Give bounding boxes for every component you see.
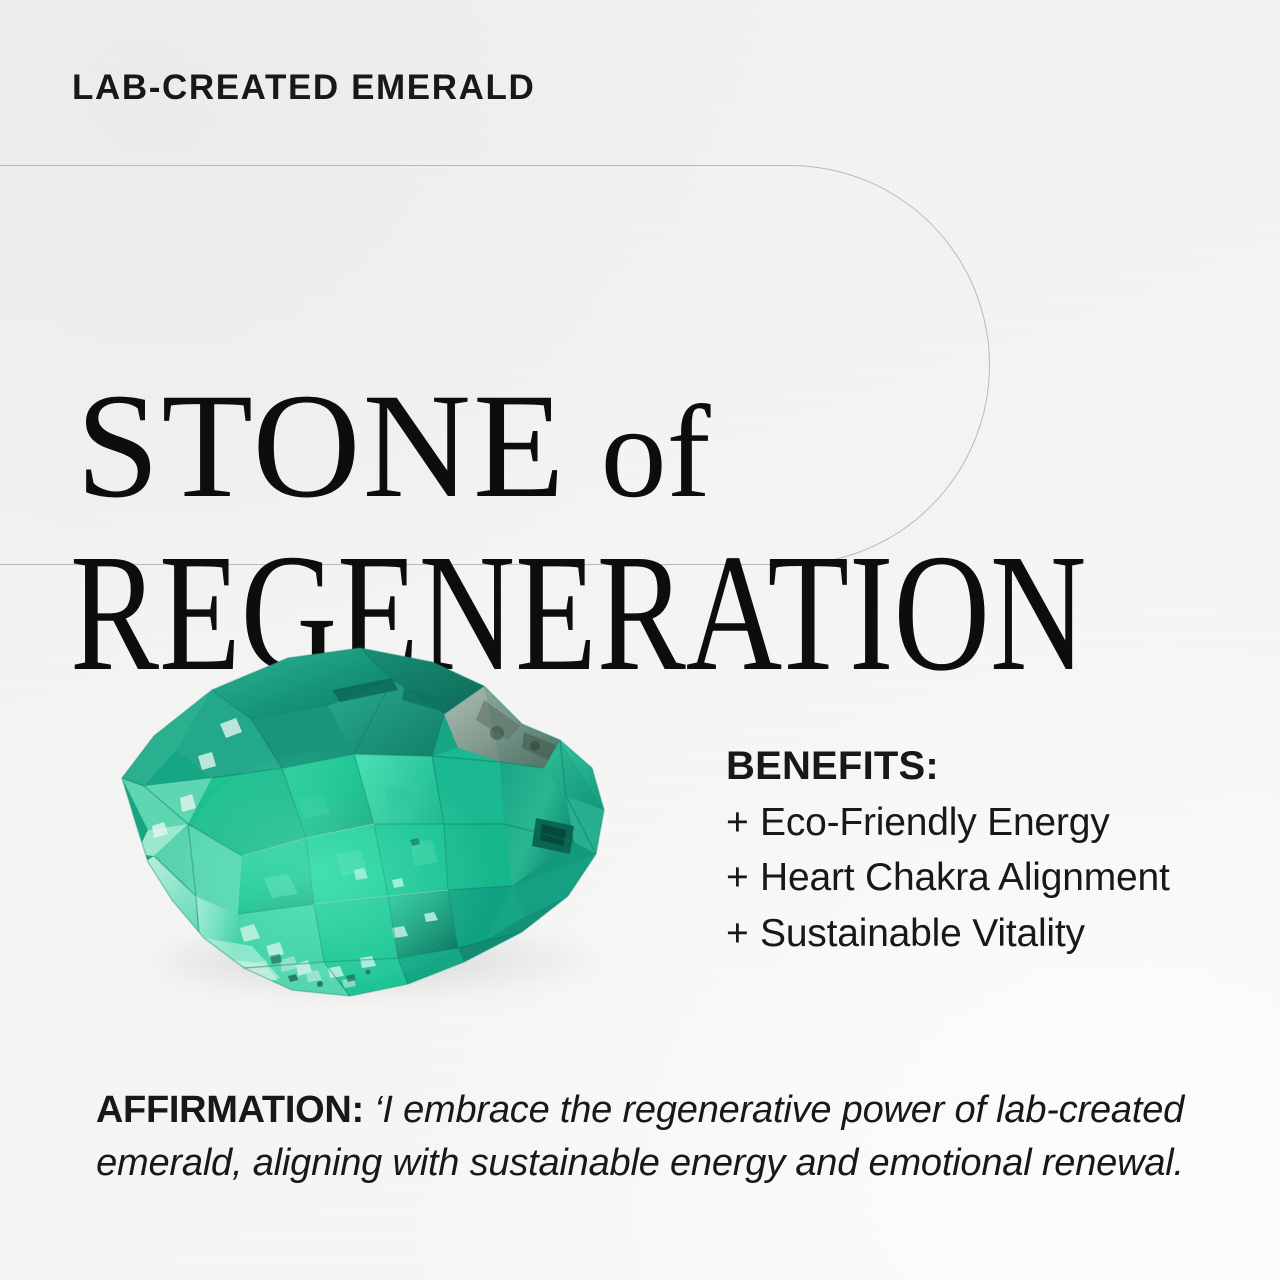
benefit-label: Sustainable Vitality xyxy=(760,912,1085,955)
benefit-item: +Sustainable Vitality xyxy=(726,906,1266,961)
benefit-label: Eco-Friendly Energy xyxy=(760,801,1110,844)
headline-block: STONEof REGENERATION xyxy=(0,165,1280,565)
affirmation-section: AFFIRMATION: ‘I embrace the regenerative… xyxy=(64,1084,1216,1190)
category-eyebrow: LAB-CREATED EMERALD xyxy=(72,68,535,108)
poster-canvas: LAB-CREATED EMERALD STONEof REGENERATION xyxy=(0,0,1280,1280)
headline-line-1: STONEof xyxy=(76,371,711,521)
headline-word-stone: STONE xyxy=(76,363,567,529)
headline-word-of: of xyxy=(567,378,711,525)
plus-icon: + xyxy=(726,850,760,905)
benefit-label: Heart Chakra Alignment xyxy=(760,856,1170,899)
plus-icon: + xyxy=(726,795,760,850)
emerald-crystal-illustration xyxy=(92,628,662,1028)
affirmation-label: AFFIRMATION: xyxy=(96,1089,374,1131)
benefit-item: +Heart Chakra Alignment xyxy=(726,850,1266,905)
benefit-item: +Eco-Friendly Energy xyxy=(726,795,1266,850)
emerald-stone-image xyxy=(92,628,662,1028)
plus-icon: + xyxy=(726,906,760,961)
benefits-section: BENEFITS: +Eco-Friendly Energy +Heart Ch… xyxy=(726,744,1266,961)
benefits-title: BENEFITS: xyxy=(726,744,1266,789)
